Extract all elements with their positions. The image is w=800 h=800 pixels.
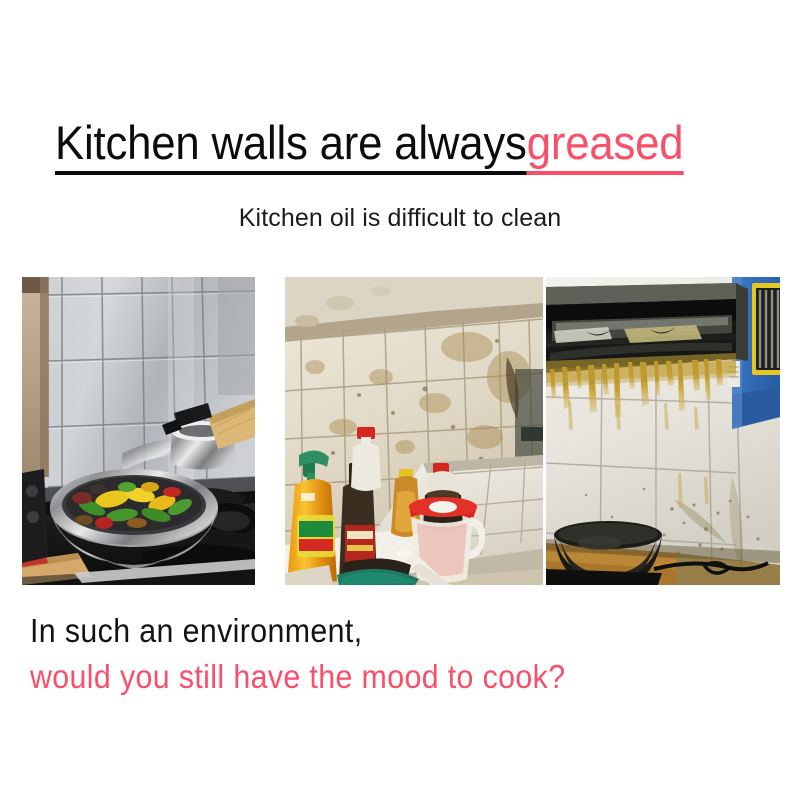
photo-range-hood-grease-drips-on-tile xyxy=(546,277,780,585)
photo-1-artwork xyxy=(22,277,255,585)
photo-2-artwork xyxy=(285,277,543,585)
headline: Kitchen walls are always greased xyxy=(55,118,706,174)
headline-text-accent: greased xyxy=(527,118,684,175)
caption-line-2: would you still have the mood to cook? xyxy=(30,654,711,700)
headline-text-dark: Kitchen walls are always xyxy=(55,118,527,175)
caption-line-1: In such an environment, xyxy=(30,608,711,654)
promo-banner: { "page": { "background": "#ffffff", "wi… xyxy=(0,0,800,800)
photo-strip xyxy=(22,277,780,585)
photo-greasy-white-tile-wall-with-bottles xyxy=(285,277,543,585)
photo-3-artwork xyxy=(546,277,780,585)
subtitle: Kitchen oil is difficult to clean xyxy=(0,203,800,233)
caption: In such an environment, would you still … xyxy=(30,608,711,700)
photo-clean-grey-tile-backsplash-with-wok xyxy=(22,277,255,585)
